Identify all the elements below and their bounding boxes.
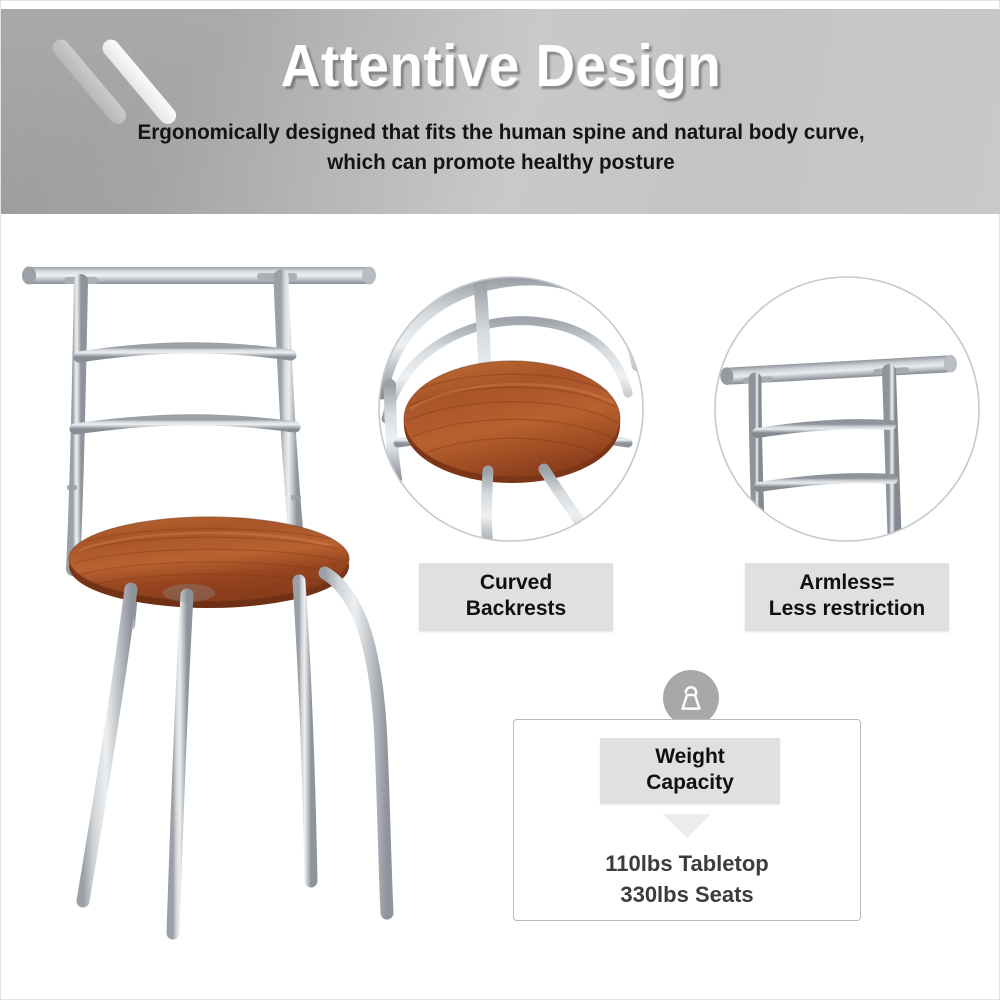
weight-heading-line-2: Capacity	[604, 770, 776, 796]
spec-seats: 330lbs Seats	[514, 879, 860, 910]
callout-line-1: Curved	[429, 570, 603, 596]
callout-line-1: Armless=	[755, 570, 939, 596]
weight-capacity-specs: 110lbs Tabletop 330lbs Seats	[514, 848, 860, 910]
spec-tabletop: 110lbs Tabletop	[514, 848, 860, 879]
banner-title: Attentive Design	[36, 35, 966, 97]
weight-capacity-heading: Weight Capacity	[600, 738, 780, 804]
header-banner: Attentive Design Ergonomically designed …	[1, 9, 1000, 214]
curved-backrests-detail-photo	[376, 273, 646, 551]
callout-line-2: Less restriction	[755, 596, 939, 622]
callout-curved-backrests: Curved Backrests	[419, 563, 613, 631]
banner-subtitle: Ergonomically designed that fits the hum…	[136, 117, 866, 177]
dining-chair-photo	[9, 233, 429, 953]
callout-armless: Armless= Less restriction	[745, 563, 949, 631]
callout-line-2: Backrests	[429, 596, 603, 622]
weight-kettlebell-icon	[663, 670, 719, 726]
armless-detail-photo	[713, 273, 981, 551]
product-feature-image: Attentive Design Ergonomically designed …	[0, 0, 1000, 1000]
chevron-down-icon	[660, 812, 714, 842]
weight-heading-line-1: Weight	[604, 744, 776, 770]
weight-capacity-panel: Weight Capacity 110lbs Tabletop 330lbs S…	[513, 719, 861, 921]
